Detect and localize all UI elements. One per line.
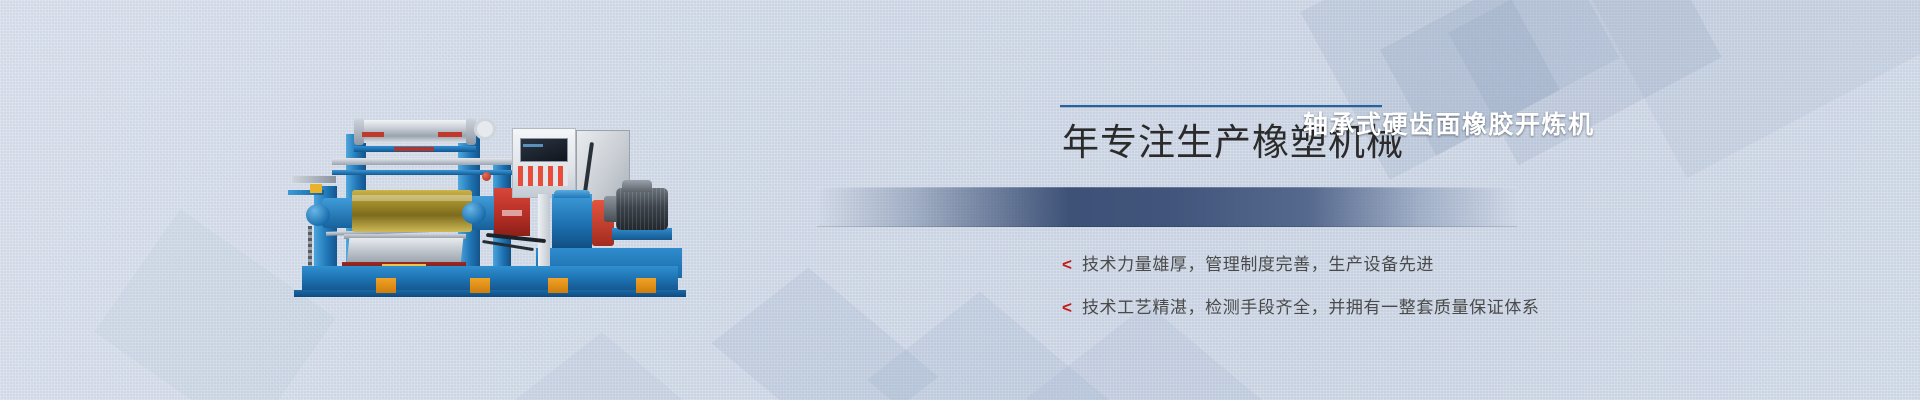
feature-list: < 技术力量雄厚，管理制度完善，生产设备先进 < 技术工艺精湛，检测手段齐全，并… <box>1062 250 1540 336</box>
machine-top-red-mark-1 <box>362 132 384 137</box>
machine-panel-screen-text <box>523 144 543 147</box>
product-image-rubber-mixing-mill <box>286 98 706 313</box>
machine-feed-arm-upper <box>292 176 336 183</box>
machine-emergency-stop <box>482 172 491 181</box>
machine-base-frame <box>302 266 678 292</box>
machine-foot-1 <box>376 278 396 293</box>
machine-handwheel <box>474 118 496 140</box>
machine-roll-highlight <box>352 195 472 201</box>
machine-foot-2 <box>470 278 490 293</box>
list-item: < 技术力量雄厚，管理制度完善，生产设备先进 <box>1062 250 1540 275</box>
decorative-shape-bottom-1 <box>712 268 939 400</box>
machine-gear-guard <box>552 194 592 248</box>
chevron-left-icon: < <box>1062 299 1072 316</box>
machine-safety-chain <box>308 226 312 266</box>
machine-base-lip <box>294 290 686 297</box>
machine-motor-fins <box>616 188 668 230</box>
machine-foot-3 <box>548 278 568 293</box>
hero-text-block: 年专注生产橡塑机械 轴承式硬齿面橡胶开炼机 < 技术力量雄厚，管理制度完善，生产… <box>1060 105 1840 163</box>
machine-motor-terminal-box <box>622 180 652 192</box>
machine-panel-stand <box>538 194 550 270</box>
chevron-left-icon: < <box>1062 256 1072 273</box>
feature-text: 技术力量雄厚，管理制度完善，生产设备先进 <box>1082 250 1434 275</box>
machine-red-box-label <box>502 210 522 216</box>
machine-beam-lower <box>332 170 522 175</box>
machine-foot-4 <box>636 278 656 293</box>
machine-panel-screen <box>520 138 568 162</box>
machine-gear-guard-top <box>554 190 590 198</box>
machine-bearing-left <box>306 204 330 226</box>
machine-top-crossbar-red <box>394 147 434 151</box>
ribbon-title: 轴承式硬齿面橡胶开炼机 <box>1303 105 1595 145</box>
decorative-shape-bottom-4 <box>513 332 717 400</box>
list-item: < 技术工艺精湛，检测手段齐全，并拥有一整套质量保证体系 <box>1062 293 1540 318</box>
feature-text: 技术工艺精湛，检测手段齐全，并拥有一整套质量保证体系 <box>1082 293 1540 318</box>
machine-top-red-mark-2 <box>438 132 462 137</box>
machine-beam-upper <box>332 158 522 165</box>
machine-panel-buttons <box>518 166 568 186</box>
hero-banner: 年专注生产橡塑机械 轴承式硬齿面橡胶开炼机 < 技术力量雄厚，管理制度完善，生产… <box>0 0 1920 400</box>
machine-bearing-right <box>462 202 486 224</box>
ribbon-bar <box>817 187 1517 227</box>
machine-arm-knob <box>310 184 322 193</box>
machine-drip-tray <box>347 238 464 264</box>
